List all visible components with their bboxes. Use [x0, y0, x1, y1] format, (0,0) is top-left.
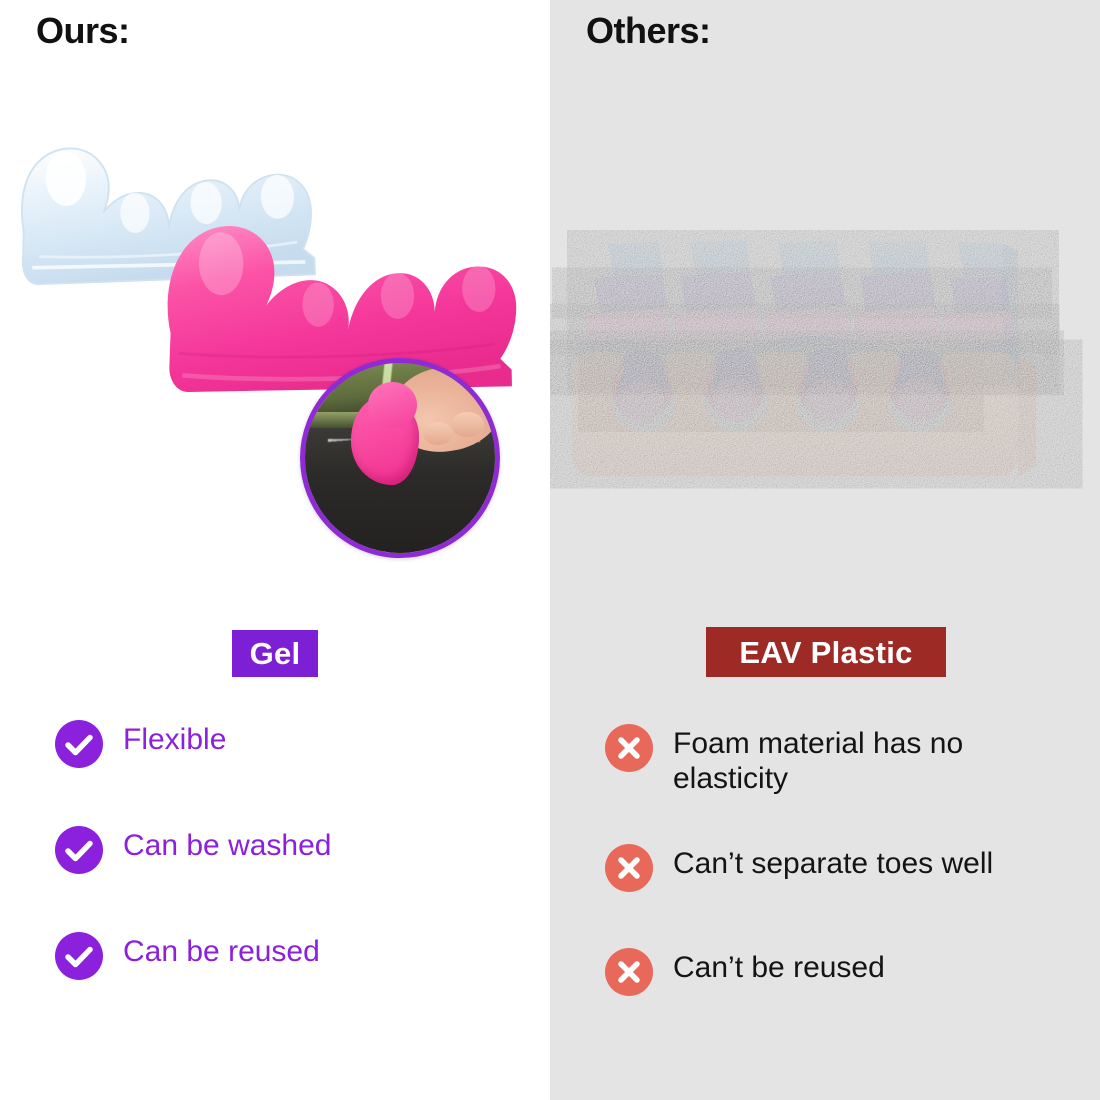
ours-feature-list: Flexible Can be washed Can be reused	[55, 718, 495, 1036]
foam-toe-separators-image	[550, 230, 1100, 500]
feature-label: Can’t separate toes well	[673, 842, 993, 881]
feature-label: Foam material has no elasticity	[673, 722, 1060, 797]
others-heading: Others:	[586, 10, 711, 52]
feature-row: Can’t be reused	[605, 946, 1060, 1050]
eav-plastic-material-badge: EAV Plastic	[706, 627, 946, 677]
washing-gel-separator-photo	[300, 358, 500, 558]
check-circle-icon	[55, 932, 103, 980]
cross-circle-icon	[605, 724, 653, 772]
purple-foam-layer	[594, 272, 1010, 314]
cross-circle-icon	[605, 948, 653, 996]
gel-material-badge: Gel	[232, 630, 318, 677]
check-circle-icon	[55, 720, 103, 768]
check-circle-icon	[55, 826, 103, 874]
ours-heading: Ours:	[36, 10, 130, 52]
others-feature-list: Foam material has no elasticity Can’t se…	[605, 722, 1060, 1050]
ours-panel: Ours:	[0, 0, 550, 1100]
feature-row: Flexible	[55, 718, 495, 824]
photo-pink-gel-top	[368, 382, 417, 428]
cross-circle-icon	[605, 844, 653, 892]
feature-label: Can’t be reused	[673, 946, 885, 985]
feature-label: Can be washed	[123, 824, 331, 863]
comparison-graphic: Ours:	[0, 0, 1100, 1100]
feature-row: Can’t separate toes well	[605, 842, 1060, 946]
feature-label: Can be reused	[123, 930, 320, 969]
feature-row: Can be reused	[55, 930, 495, 1036]
feature-row: Foam material has no elasticity	[605, 722, 1060, 842]
feature-label: Flexible	[123, 718, 226, 757]
feature-row: Can be washed	[55, 824, 495, 930]
photo-finger-2	[423, 422, 453, 445]
photo-finger-1	[451, 412, 483, 437]
